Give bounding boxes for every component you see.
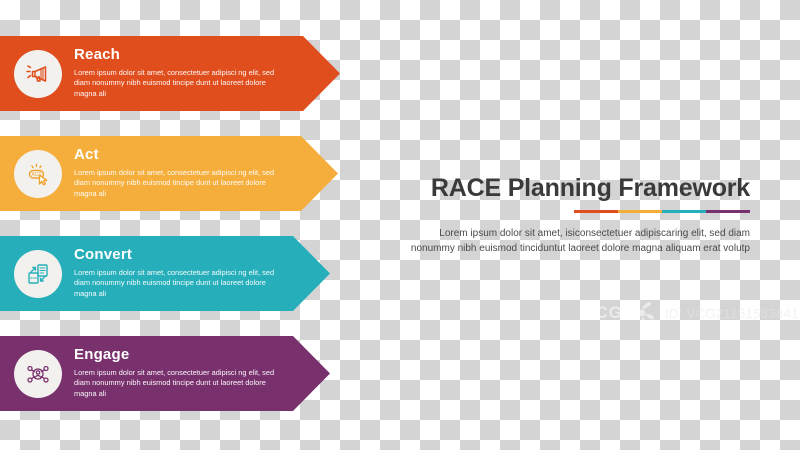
act-click-button-icon: ACT [14,150,62,198]
banner-text-convert: Convert Lorem ipsum dolor sit amet, cons… [74,247,380,299]
divider-segment-act [618,210,662,213]
banner-engage[interactable]: Engage Lorem ipsum dolor sit amet, conse… [0,336,380,411]
banner-act[interactable]: ACT Act Lorem ipsum dolor sit amet, cons… [0,136,380,211]
divider-segment-engage [706,210,750,213]
page-title: RACE Planning Framework [405,175,750,203]
banner-description-convert: Lorem ipsum dolor sit amet, consectetuer… [74,268,279,300]
banner-reach[interactable]: Reach Lorem ipsum dolor sit amet, consec… [0,36,380,111]
banner-description-act: Lorem ipsum dolor sit amet, consectetuer… [74,168,279,200]
banner-content-engage: Engage Lorem ipsum dolor sit amet, conse… [0,336,380,411]
divider-segment-convert [662,210,706,213]
banner-title-reach: Reach [74,47,374,64]
user-network-icon [14,350,62,398]
banner-title-act: Act [74,147,374,164]
banner-convert[interactable]: Convert Lorem ipsum dolor sit amet, cons… [0,236,380,311]
infographic-canvas: Reach Lorem ipsum dolor sit amet, consec… [0,0,800,450]
banner-text-act: Act Lorem ipsum dolor sit amet, consecte… [74,147,380,199]
page-description: Lorem ipsum dolor sit amet, isiconsectet… [405,226,750,257]
banner-description-engage: Lorem ipsum dolor sit amet, consectetuer… [74,368,279,400]
banner-description-reach: Lorem ipsum dolor sit amet, consectetuer… [74,68,279,100]
banner-text-reach: Reach Lorem ipsum dolor sit amet, consec… [74,47,380,99]
content-block: RACE Planning Framework Lorem ipsum dolo… [405,175,750,257]
divider-segment-reach [574,210,618,213]
banner-content-reach: Reach Lorem ipsum dolor sit amet, consec… [0,36,380,111]
banner-text-engage: Engage Lorem ipsum dolor sit amet, conse… [74,347,380,399]
megaphone-icon [14,50,62,98]
watermark: VCG ID: VCG211515838417 [565,292,800,334]
watermark-id-text: ID: VCG211515838417 [665,306,800,321]
banner-title-convert: Convert [74,247,374,264]
watermark-logo-text: VCG [583,303,623,323]
document-exchange-icon [14,250,62,298]
watermark-flower-icon [625,296,659,330]
banner-title-engage: Engage [74,347,374,364]
banner-content-act: ACT Act Lorem ipsum dolor sit amet, cons… [0,136,380,211]
color-divider [405,210,750,213]
race-banner-list: Reach Lorem ipsum dolor sit amet, consec… [0,36,380,436]
banner-content-convert: Convert Lorem ipsum dolor sit amet, cons… [0,236,380,311]
